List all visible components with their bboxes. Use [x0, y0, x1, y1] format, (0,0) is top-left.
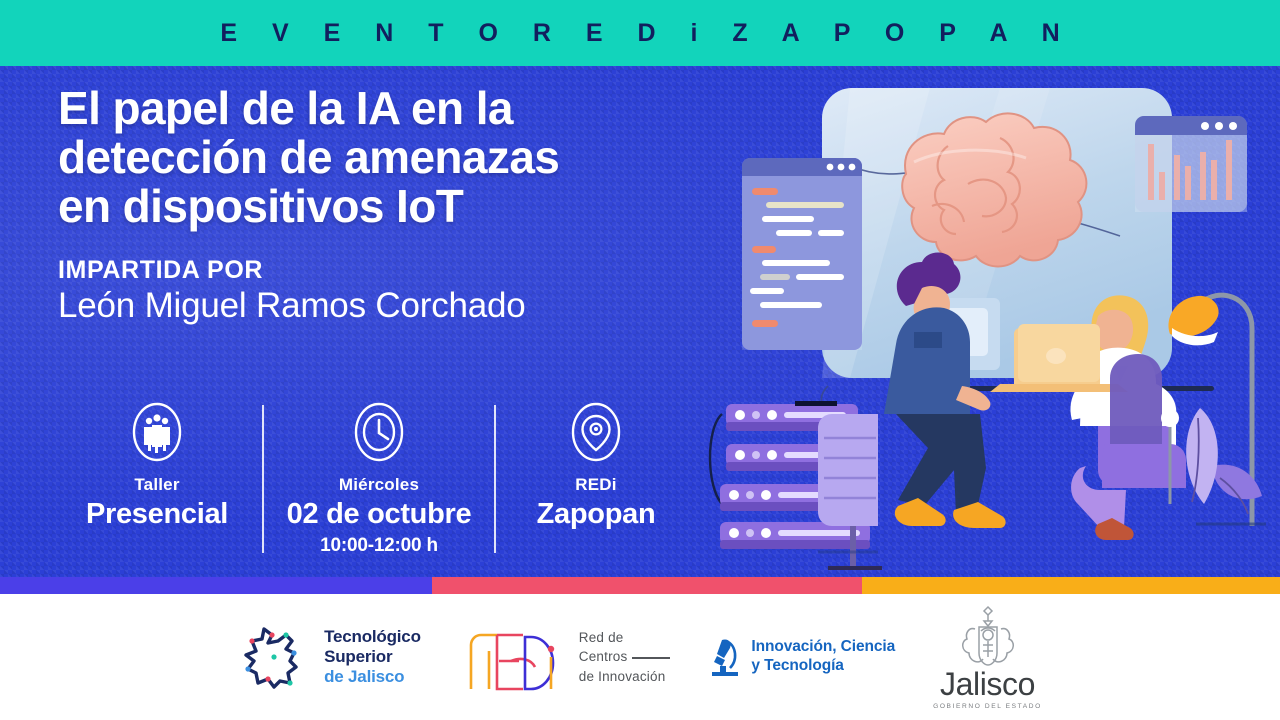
hero-section: El papel de la IA en la detección de ame… — [0, 66, 1280, 577]
logo-tsj-line-3: de Jalisco — [324, 667, 421, 687]
footer-logos: Tecnológico Superior de Jalisco Red de C… — [0, 594, 1280, 720]
logo-redi-line-2: Centros — [579, 649, 628, 664]
detail-location-main: Zapopan — [537, 497, 656, 531]
detail-date-top: Miércoles — [339, 476, 419, 495]
divider-segment-red — [432, 577, 862, 594]
ai-workspace-illustration — [700, 66, 1280, 577]
code-window — [742, 158, 862, 350]
page-title: El papel de la IA en la detección de ame… — [58, 84, 748, 230]
detail-modality: Taller Presencial — [52, 401, 262, 531]
logo-ict-text: Innovación, Ciencia y Tecnología — [751, 638, 895, 676]
title-line-1: El papel de la IA en la — [58, 84, 748, 133]
logo-redi-line-1: Red de — [579, 628, 671, 647]
detail-modality-main: Presencial — [86, 497, 228, 531]
logo-innovacion-ciencia-tecnologia: Innovación, Ciencia y Tecnología — [708, 634, 895, 680]
divider-segment-orange — [862, 577, 1280, 594]
logo-tsj-line-2: Superior — [324, 647, 421, 667]
tricolor-divider — [0, 577, 1280, 594]
detail-date-time: 10:00-12:00 h — [320, 535, 438, 557]
people-icon — [130, 401, 184, 463]
speaker-label: IMPARTIDA POR — [58, 256, 748, 285]
jalisco-coat-of-arms-icon — [953, 605, 1023, 667]
event-poster: E V E N T O R E D i Z A P O P A N — [0, 0, 1280, 720]
event-banner-text: E V E N T O R E D i Z A P O P A N — [206, 19, 1073, 48]
detail-modality-top: Taller — [134, 476, 179, 495]
logo-jalisco-subtitle: GOBIERNO DEL ESTADO — [933, 703, 1042, 710]
logo-redi-rule — [632, 657, 670, 658]
clock-icon — [352, 401, 406, 463]
logo-ict-line-2: y Tecnología — [751, 657, 895, 676]
logo-jalisco-wordmark: Jalisco — [940, 668, 1035, 700]
logo-jalisco-gobierno: Jalisco GOBIERNO DEL ESTADO — [933, 605, 1042, 710]
logo-tsj-text: Tecnológico Superior de Jalisco — [324, 627, 421, 686]
speaker-name: León Miguel Ramos Corchado — [58, 286, 748, 326]
logo-redi: Red de Centros de Innovación — [459, 621, 671, 693]
event-details-strip: Taller Presencial Miércoles 02 de octubr… — [52, 401, 712, 561]
logo-tecnologico-superior-de-jalisco: Tecnológico Superior de Jalisco — [238, 621, 421, 693]
jalisco-map-deer-icon — [238, 621, 312, 693]
title-line-3: en dispositivos IoT — [58, 182, 748, 231]
logo-redi-text: Red de Centros de Innovación — [579, 628, 671, 685]
location-pin-icon — [569, 401, 623, 463]
title-line-2: detección de amenazas — [58, 133, 748, 182]
redi-wordmark-icon — [459, 621, 567, 693]
hero-text-block: El papel de la IA en la detección de ame… — [58, 84, 748, 326]
bar-chart-window — [1135, 116, 1247, 212]
divider-segment-purple — [0, 577, 432, 594]
detail-date-main: 02 de octubre — [287, 497, 472, 531]
detail-location: REDi Zapopan — [496, 401, 696, 531]
detail-date: Miércoles 02 de octubre 10:00-12:00 h — [264, 401, 494, 557]
microscope-icon — [708, 634, 742, 680]
logo-ict-line-1: Innovación, Ciencia — [751, 638, 895, 657]
top-banner: E V E N T O R E D i Z A P O P A N — [0, 0, 1280, 66]
detail-location-top: REDi — [575, 476, 616, 495]
logo-tsj-line-1: Tecnológico — [324, 627, 421, 647]
logo-redi-line-3: de Innovación — [579, 667, 671, 686]
